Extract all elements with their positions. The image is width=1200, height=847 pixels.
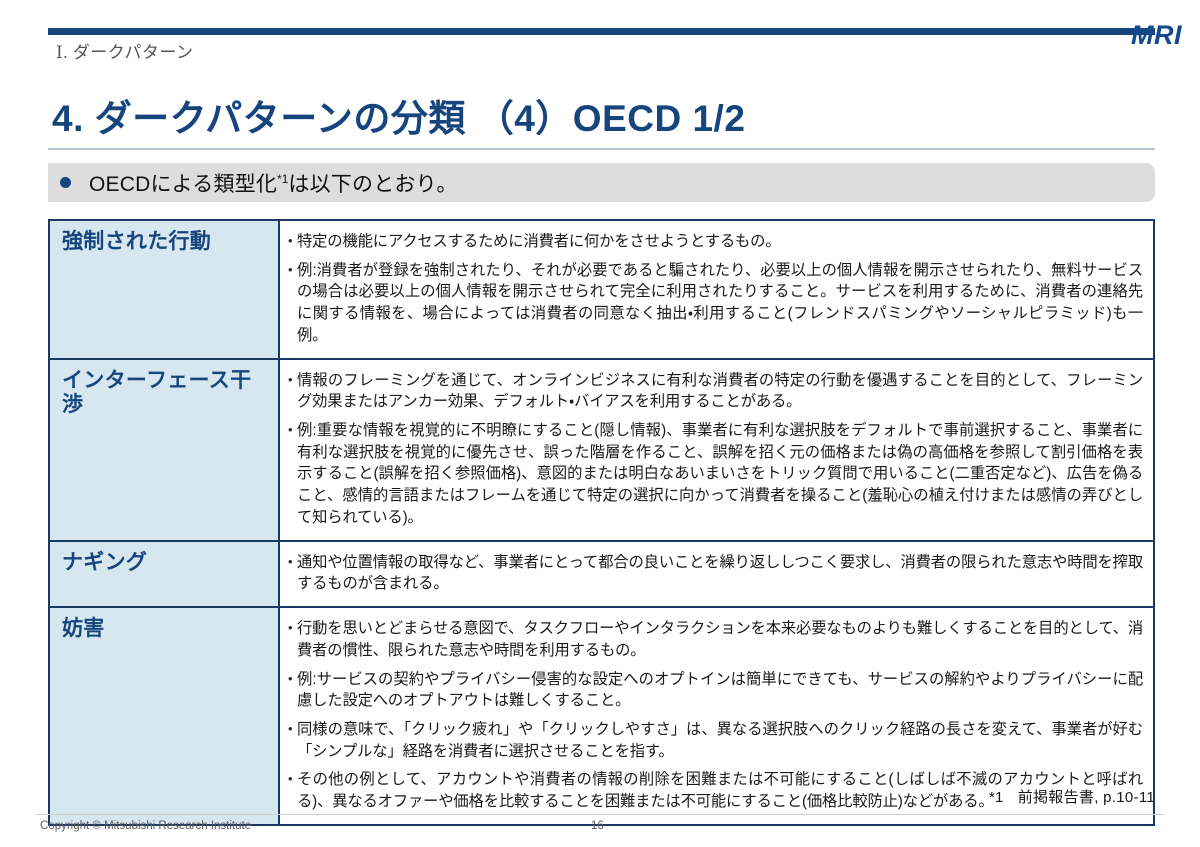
list-bullet-icon: • [288, 769, 297, 789]
list-item-text: 例:消費者が登録を強制されたり、それが必要であると騙されたり、必要以上の個人情報… [297, 260, 1143, 347]
page-title: 4. ダークパターンの分類 （4）OECD 1/2 [52, 88, 745, 142]
page-number: 16 [591, 820, 604, 832]
subtitle-text-before: OECDによる類型化 [89, 173, 277, 196]
table-row-description-cell: •情報のフレーミングを通じて、オンラインビジネスに有利な消費者の特定の行動を優遇… [280, 360, 1153, 540]
table-row-label: 強制された行動 [62, 230, 211, 253]
table-row: インターフェース干渉•情報のフレーミングを通じて、オンラインビジネスに有利な消費… [50, 360, 1153, 542]
list-item: •例:消費者が登録を強制されたり、それが必要であると騙されたり、必要以上の個人情… [288, 260, 1143, 347]
list-item: •例:重要な情報を視覚的に不明瞭にすること(隠し情報)、事業者に有利な選択肢をデ… [288, 420, 1143, 529]
header-accent-rule [48, 28, 1155, 35]
table-row-label: ナギング [62, 551, 147, 574]
subtitle-superscript: *1 [277, 172, 288, 186]
list-bullet-icon: • [288, 552, 297, 572]
table-row: 強制された行動•特定の機能にアクセスするために消費者に何かをさせようとするもの。… [50, 221, 1153, 360]
list-item-text: 通知や位置情報の取得など、事業者にとって都合の良いことを繰り返ししつこく要求し、… [297, 552, 1143, 595]
list-bullet-icon: • [288, 420, 297, 440]
table-row: ナギング•通知や位置情報の取得など、事業者にとって都合の良いことを繰り返ししつこ… [50, 542, 1153, 608]
list-item: •情報のフレーミングを通じて、オンラインビジネスに有利な消費者の特定の行動を優遇… [288, 370, 1143, 413]
subtitle-text-after: は以下のとおり。 [288, 173, 457, 196]
breadcrumb: Ⅰ. ダークパターン [56, 38, 194, 63]
title-divider [48, 148, 1155, 150]
list-item: •同様の意味で、「クリック疲れ」や「クリックしやすさ」は、異なる選択肢へのクリッ… [288, 719, 1143, 762]
list-item: •通知や位置情報の取得など、事業者にとって都合の良いことを繰り返ししつこく要求し… [288, 552, 1143, 595]
table-row-label-cell: 強制された行動 [50, 221, 280, 358]
classification-table: 強制された行動•特定の機能にアクセスするために消費者に何かをさせようとするもの。… [48, 219, 1155, 826]
footnote: *1前掲報告書, p.10-11 [989, 786, 1155, 807]
list-item: •例:サービスの契約やプライバシー侵害的な設定へのオプトインは簡単にできても、サ… [288, 669, 1143, 712]
copyright-text: Copyright © Mitsubishi Research Institut… [40, 820, 251, 832]
list-bullet-icon: • [288, 719, 297, 739]
list-item: •特定の機能にアクセスするために消費者に何かをさせようとするもの。 [288, 231, 1143, 253]
list-item-text: 特定の機能にアクセスするために消費者に何かをさせようとするもの。 [297, 231, 1143, 253]
footnote-marker: *1 [989, 789, 1004, 806]
list-item-text: 例:重要な情報を視覚的に不明瞭にすること(隠し情報)、事業者に有利な選択肢をデフ… [297, 420, 1143, 529]
list-item-text: 例:サービスの契約やプライバシー侵害的な設定へのオプトインは簡単にできても、サー… [297, 669, 1143, 712]
list-bullet-icon: • [288, 370, 297, 390]
footer-divider [36, 814, 1164, 815]
list-item-text: 情報のフレーミングを通じて、オンラインビジネスに有利な消費者の特定の行動を優遇す… [297, 370, 1143, 413]
list-bullet-icon: • [288, 669, 297, 689]
table-row-label-cell: インターフェース干渉 [50, 360, 280, 540]
list-item-text: 同様の意味で、「クリック疲れ」や「クリックしやすさ」は、異なる選択肢へのクリック… [297, 719, 1143, 762]
subtitle-text: OECDによる類型化*1は以下のとおり。 [89, 168, 458, 198]
subtitle-bar: OECDによる類型化*1は以下のとおり。 [48, 163, 1155, 202]
bullet-dot-icon [60, 177, 71, 188]
list-item-text: 行動を思いとどまらせる意図で、タスクフローやインタラクションを本来必要なものより… [297, 618, 1143, 661]
list-bullet-icon: • [288, 260, 297, 280]
table-row-description-cell: •特定の機能にアクセスするために消費者に何かをさせようとするもの。•例:消費者が… [280, 221, 1153, 358]
table-row-label: インターフェース干渉 [62, 369, 251, 416]
list-item: •行動を思いとどまらせる意図で、タスクフローやインタラクションを本来必要なものよ… [288, 618, 1143, 661]
table-row-description-cell: •通知や位置情報の取得など、事業者にとって都合の良いことを繰り返ししつこく要求し… [280, 542, 1153, 606]
list-bullet-icon: • [288, 231, 297, 251]
table-row-label-cell: ナギング [50, 542, 280, 606]
table-row: 妨害•行動を思いとどまらせる意図で、タスクフローやインタラクションを本来必要なも… [50, 608, 1153, 824]
table-row-label: 妨害 [62, 617, 105, 640]
list-bullet-icon: • [288, 618, 297, 638]
mri-logo: MRI [1131, 20, 1182, 51]
footnote-text: 前掲報告書, p.10-11 [1018, 789, 1155, 806]
table-row-label-cell: 妨害 [50, 608, 280, 824]
